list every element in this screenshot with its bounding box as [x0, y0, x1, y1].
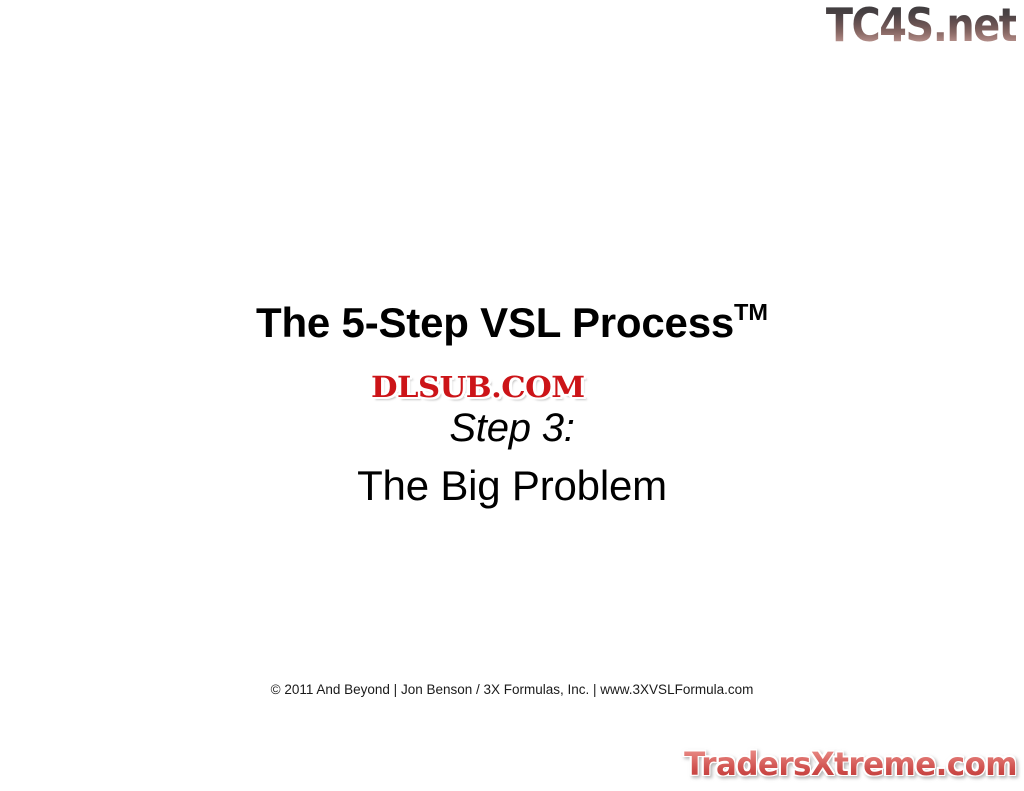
step-label: Step 3:: [0, 406, 1024, 451]
presentation-slide: TC4S.net The 5-Step VSL ProcessTM Step 3…: [0, 0, 1024, 791]
tradersxtreme-watermark: TradersXtreme.com: [684, 749, 1017, 781]
tc4s-net-logo: TC4S.net: [826, 2, 1016, 49]
trademark-symbol: TM: [734, 299, 768, 325]
page-title: The 5-Step VSL ProcessTM: [0, 300, 1024, 345]
step-name: The Big Problem: [0, 459, 1024, 513]
footer-credit: © 2011 And Beyond | Jon Benson / 3X Form…: [0, 681, 1024, 699]
page-title-text: The 5-Step VSL Process: [256, 299, 734, 346]
subtitle-block: Step 3: The Big Problem: [0, 406, 1024, 513]
dlsub-watermark: DLSUB.COM: [371, 374, 585, 403]
